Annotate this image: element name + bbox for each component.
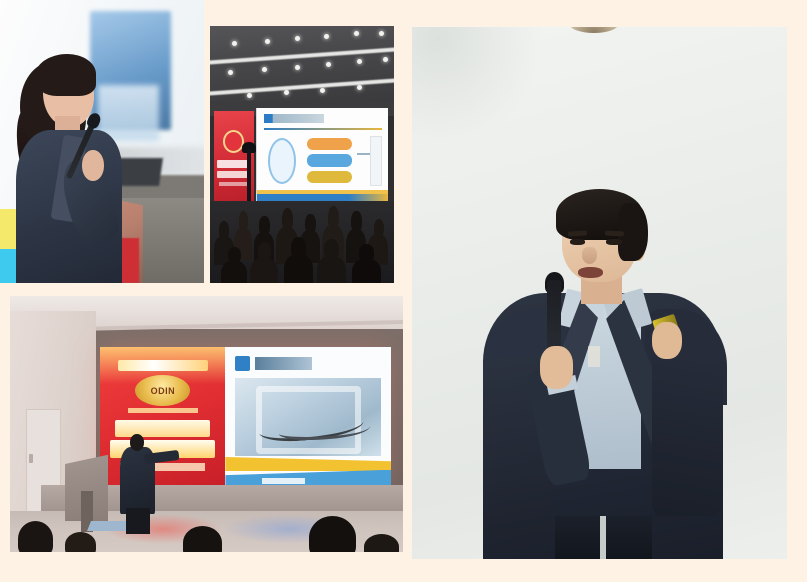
audience-member — [250, 258, 278, 284]
speaker-eye-left — [570, 239, 586, 245]
slide-box-yellow — [307, 171, 352, 184]
company-logo-icon — [235, 356, 250, 371]
stage-speaker-head — [130, 434, 144, 451]
wall-light-patch — [412, 27, 540, 144]
collage-canvas: ODIN — [0, 0, 807, 582]
ceiling-light-icon — [284, 90, 289, 95]
photo-panel-audience — [210, 26, 394, 283]
banner-title-line — [217, 171, 251, 179]
photo-panel-stage-wide: ODIN — [10, 296, 403, 552]
banner-subtitle-line — [219, 182, 247, 186]
slide-side-column — [370, 136, 382, 187]
audience-member — [284, 254, 313, 283]
photo-panel-female-speaker — [0, 0, 204, 283]
photo-panel-male-speaker — [412, 27, 787, 559]
stage-speaker-legs — [126, 508, 150, 534]
ceiling-light-icon — [247, 93, 252, 98]
ceiling-light-icon — [326, 62, 331, 67]
laptop-on-stage — [87, 521, 130, 531]
speaker-hair-top — [35, 54, 96, 96]
speaker-leg-gap — [600, 516, 606, 559]
speaker-hand-holding-mic — [540, 346, 574, 389]
audience-member-head — [228, 247, 241, 263]
slide-product-photo — [235, 378, 381, 455]
odin-logo: ODIN — [135, 375, 190, 406]
audience-member-head — [324, 239, 339, 259]
audience-member-head — [219, 221, 229, 238]
slide-footer-yellow — [225, 457, 391, 471]
audience-member — [352, 259, 381, 283]
speaker-eye-right — [606, 239, 622, 245]
slide-box-orange — [307, 138, 352, 151]
slide-box-blue — [307, 154, 352, 167]
audience-member — [317, 256, 346, 283]
audience-member-head — [282, 208, 293, 230]
foreground-audience-member — [18, 521, 53, 552]
event-title-line-1 — [115, 420, 210, 437]
banner-title-line — [217, 160, 251, 168]
projected-slide — [256, 108, 388, 206]
slide-divider-rule — [264, 128, 382, 130]
key-visual-tagline — [118, 360, 208, 371]
slide-footer-url — [262, 478, 305, 484]
door-handle-icon — [29, 454, 33, 463]
ceiling-light-icon — [295, 36, 300, 41]
audience-member-head — [328, 206, 339, 229]
audience-member-head — [374, 219, 384, 238]
slide-product-deck — [225, 347, 391, 488]
audience-member-head — [259, 216, 269, 235]
audience-member-head — [258, 242, 272, 261]
speaker-hand-holding-clicker — [652, 322, 682, 359]
slide-header-logo — [264, 114, 324, 123]
audience-member-head — [351, 211, 361, 232]
slide-connector-line — [357, 153, 370, 155]
audience-member-head — [239, 211, 248, 231]
audience-member-head — [305, 214, 315, 234]
foreground-audience-member — [364, 534, 399, 552]
ceiling-light-icon — [383, 57, 388, 62]
audience-member — [221, 261, 247, 283]
speaker-mouth — [578, 267, 603, 278]
ceiling-light-icon — [262, 67, 267, 72]
slide-center-ellipse — [268, 138, 297, 185]
audience-member-head — [359, 244, 374, 261]
odin-logo-subtitle — [128, 408, 198, 414]
ceiling-light-icon — [324, 34, 329, 39]
company-logo-text — [255, 357, 311, 370]
audience-member-head — [291, 237, 306, 258]
product-hose-line — [279, 420, 369, 440]
speaker-hand — [82, 150, 104, 181]
foreground-audience-member — [183, 526, 222, 552]
speaker-badge — [588, 346, 599, 367]
ceiling-light-icon — [354, 31, 359, 36]
ceiling-light-icon — [295, 65, 300, 70]
speaker-arm-right — [652, 346, 723, 516]
foreground-audience-member — [309, 516, 356, 552]
